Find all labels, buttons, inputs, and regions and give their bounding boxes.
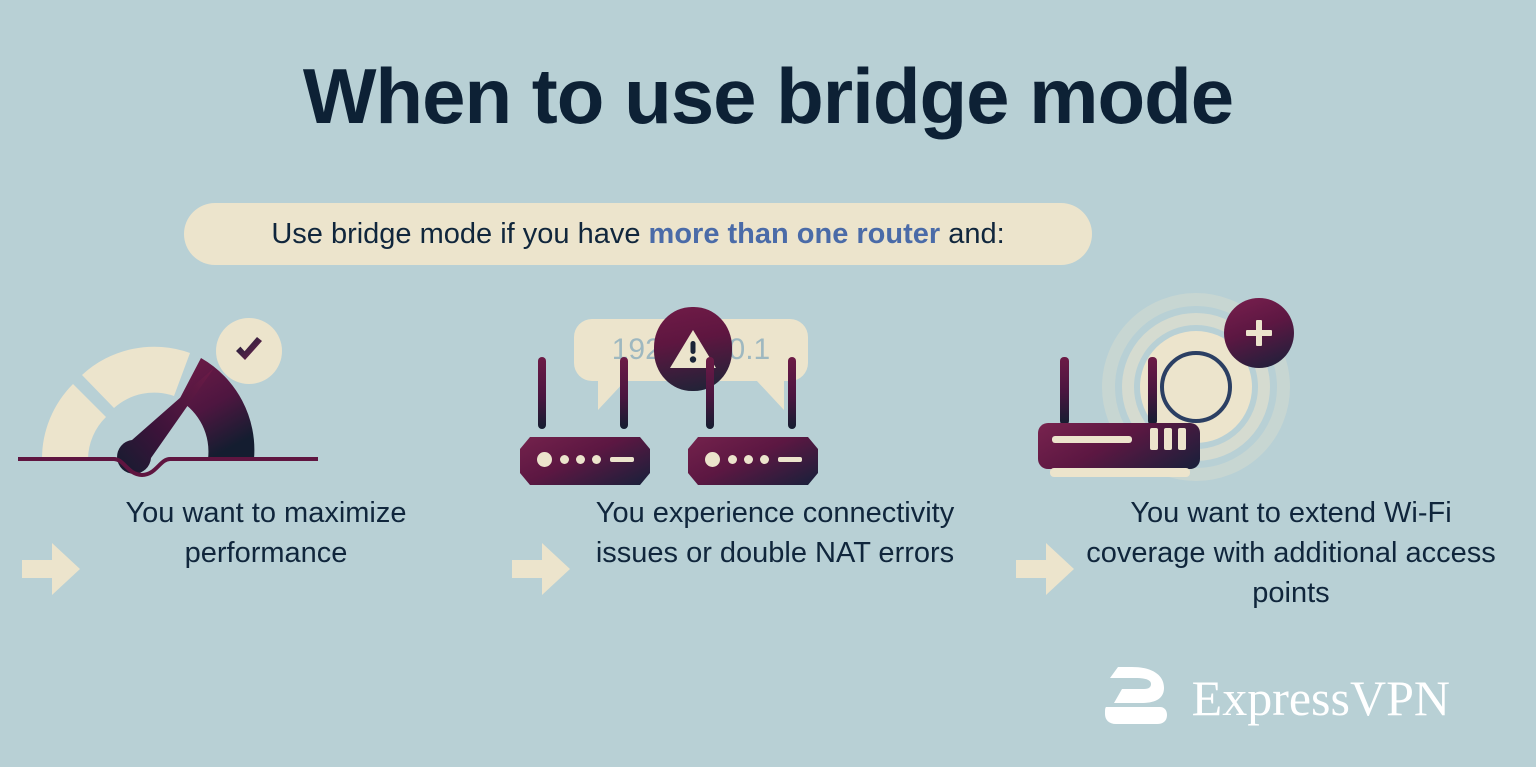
gauge-illustration bbox=[0, 295, 512, 485]
router-antenna bbox=[788, 357, 796, 429]
router-led bbox=[592, 455, 601, 464]
page-title: When to use bridge mode bbox=[0, 56, 1536, 138]
router-left-icon bbox=[520, 357, 650, 485]
router-led bbox=[744, 455, 753, 464]
expressvpn-e-mark-icon bbox=[1102, 665, 1174, 731]
banner-highlight: more than one router bbox=[649, 218, 941, 250]
router-wifi-ripples-icon bbox=[1034, 285, 1354, 485]
router-extend-icon bbox=[1038, 357, 1238, 477]
router-led bbox=[728, 455, 737, 464]
two-routers-icon: 192.168.0.1 bbox=[520, 295, 860, 485]
router-power-led bbox=[705, 452, 720, 467]
banner-text-after: and: bbox=[940, 218, 1005, 250]
check-icon bbox=[232, 334, 266, 368]
router-tick bbox=[1178, 428, 1186, 450]
router-bar bbox=[1052, 436, 1132, 443]
expressvpn-logo: ExpressVPN bbox=[1102, 665, 1450, 731]
router-body bbox=[1038, 423, 1200, 469]
check-badge bbox=[216, 318, 282, 384]
router-dash bbox=[610, 457, 634, 462]
router-tick bbox=[1164, 428, 1172, 450]
router-led bbox=[560, 455, 569, 464]
plus-icon bbox=[1242, 316, 1276, 350]
router-antenna bbox=[1148, 357, 1157, 425]
router-antenna bbox=[1060, 357, 1069, 425]
wifi-extend-illustration bbox=[1024, 295, 1536, 485]
banner-pill: Use bridge mode if you have more than on… bbox=[184, 203, 1092, 265]
reason-caption-1: You want to maximize performance bbox=[0, 493, 512, 573]
router-antenna bbox=[538, 357, 546, 429]
router-antenna bbox=[706, 357, 714, 429]
router-tick bbox=[1150, 428, 1158, 450]
router-power-led bbox=[537, 452, 552, 467]
banner-text-before: Use bridge mode if you have bbox=[271, 218, 648, 250]
router-body bbox=[520, 437, 650, 485]
router-body bbox=[688, 437, 818, 485]
infographic-canvas: When to use bridge mode Use bridge mode … bbox=[0, 0, 1536, 767]
expressvpn-wordmark: ExpressVPN bbox=[1192, 673, 1450, 723]
router-dash bbox=[778, 457, 802, 462]
reason-caption-2: You experience connectivity issues or do… bbox=[512, 493, 1024, 573]
routers-conflict-illustration: 192.168.0.1 bbox=[512, 295, 1024, 485]
router-led bbox=[576, 455, 585, 464]
reason-column-performance: You want to maximize performance bbox=[0, 295, 512, 635]
reasons-row: You want to maximize performance 192.168… bbox=[0, 295, 1536, 635]
speedometer-gauge-icon bbox=[18, 291, 318, 481]
router-antenna bbox=[620, 357, 628, 429]
banner-text: Use bridge mode if you have more than on… bbox=[271, 218, 1004, 251]
reason-column-coverage: You want to extend Wi-Fi coverage with a… bbox=[1024, 295, 1536, 635]
reason-column-connectivity: 192.168.0.1 bbox=[512, 295, 1024, 635]
router-base bbox=[1050, 468, 1190, 477]
router-led bbox=[760, 455, 769, 464]
router-right-icon bbox=[688, 357, 818, 485]
reason-caption-3: You want to extend Wi-Fi coverage with a… bbox=[1024, 493, 1536, 613]
